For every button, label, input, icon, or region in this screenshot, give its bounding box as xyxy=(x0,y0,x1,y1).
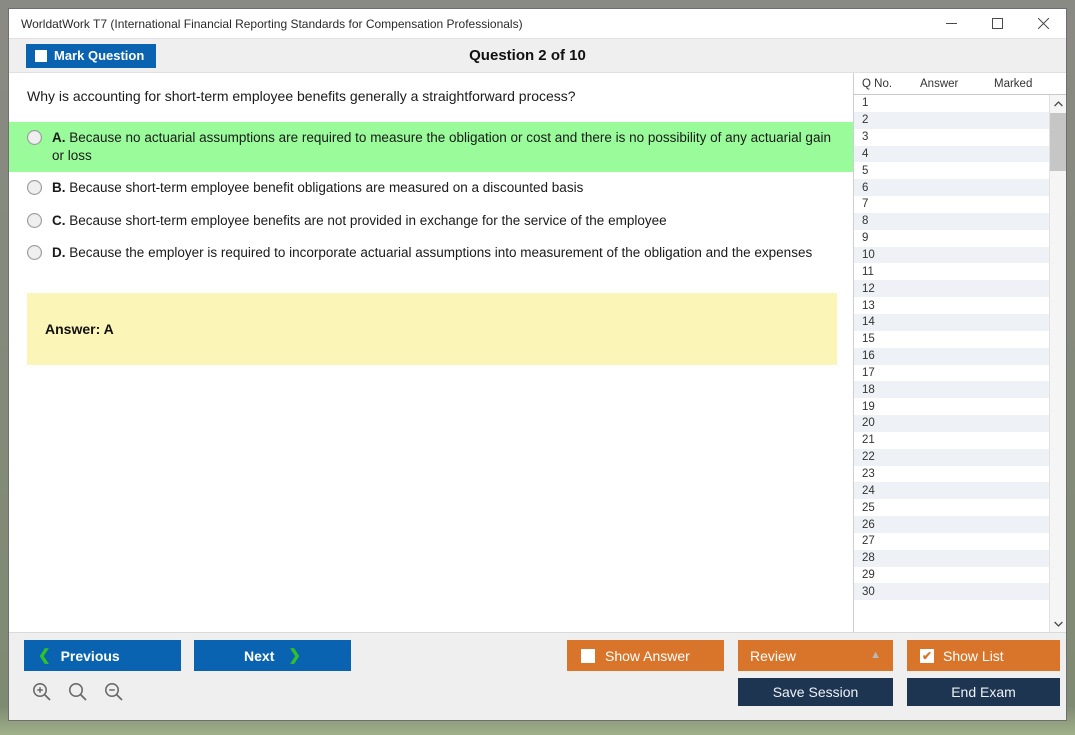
option-c-letter: C. xyxy=(52,213,66,228)
row-qno: 4 xyxy=(862,148,918,160)
question-list-row[interactable]: 8 xyxy=(854,213,1049,230)
scroll-up-icon[interactable] xyxy=(1050,95,1067,112)
answer-label: Answer: A xyxy=(45,321,114,337)
option-a-label: A. Because no actuarial assumptions are … xyxy=(52,129,835,165)
close-icon[interactable] xyxy=(1020,9,1066,39)
row-qno: 28 xyxy=(862,552,918,564)
question-list-row[interactable]: 25 xyxy=(854,499,1049,516)
show-answer-label: Show Answer xyxy=(605,648,690,664)
question-list-row[interactable]: 26 xyxy=(854,516,1049,533)
save-session-label: Save Session xyxy=(773,684,859,700)
option-d-letter: D. xyxy=(52,245,66,260)
zoom-out-icon[interactable] xyxy=(103,681,125,703)
option-b[interactable]: B. Because short-term employee benefit o… xyxy=(9,172,855,204)
exam-window: WorldatWork T7 (International Financial … xyxy=(8,8,1067,721)
question-list-row[interactable]: 19 xyxy=(854,398,1049,415)
bottom-toolbar: ❮ Previous Next ❯ Show Answer Review ▲ ✔… xyxy=(9,632,1066,720)
zoom-controls xyxy=(31,681,125,703)
question-list-row[interactable]: 30 xyxy=(854,583,1049,600)
row-qno: 7 xyxy=(862,198,918,210)
show-answer-checkbox-icon[interactable] xyxy=(581,649,595,663)
row-qno: 9 xyxy=(862,232,918,244)
option-a-text: Because no actuarial assumptions are req… xyxy=(52,130,831,163)
scrollbar-thumb[interactable] xyxy=(1050,113,1066,171)
end-exam-button[interactable]: End Exam xyxy=(907,678,1060,706)
question-list-row[interactable]: 20 xyxy=(854,415,1049,432)
row-qno: 26 xyxy=(862,519,918,531)
question-list-rows: 1234567891011121314151617181920212223242… xyxy=(854,95,1049,632)
title-bar: WorldatWork T7 (International Financial … xyxy=(9,9,1066,39)
row-qno: 10 xyxy=(862,249,918,261)
row-qno: 23 xyxy=(862,468,918,480)
desktop-background: WorldatWork T7 (International Financial … xyxy=(0,0,1075,735)
question-list-row[interactable]: 29 xyxy=(854,567,1049,584)
row-qno: 24 xyxy=(862,485,918,497)
question-list-row[interactable]: 6 xyxy=(854,179,1049,196)
zoom-in-icon[interactable] xyxy=(31,681,53,703)
radio-icon-d[interactable] xyxy=(27,245,42,260)
minimize-icon[interactable] xyxy=(928,9,974,39)
option-c[interactable]: C. Because short-term employee benefits … xyxy=(9,205,855,237)
option-d-text: Because the employer is required to inco… xyxy=(69,245,812,260)
option-d-label: D. Because the employer is required to i… xyxy=(52,244,835,262)
option-a[interactable]: A. Because no actuarial assumptions are … xyxy=(9,122,855,172)
answer-box: Answer: A xyxy=(27,293,837,365)
option-d[interactable]: D. Because the employer is required to i… xyxy=(9,237,855,269)
question-panel: Why is accounting for short-term employe… xyxy=(9,73,855,632)
option-c-label: C. Because short-term employee benefits … xyxy=(52,212,835,230)
question-list-header: Q No. Answer Marked xyxy=(854,73,1066,95)
question-list-row[interactable]: 5 xyxy=(854,162,1049,179)
row-qno: 8 xyxy=(862,215,918,227)
question-list-row[interactable]: 13 xyxy=(854,297,1049,314)
show-answer-button[interactable]: Show Answer xyxy=(567,640,724,671)
row-qno: 15 xyxy=(862,333,918,345)
question-list-row[interactable]: 12 xyxy=(854,280,1049,297)
window-controls xyxy=(928,9,1066,39)
question-list-row[interactable]: 14 xyxy=(854,314,1049,331)
radio-icon-c[interactable] xyxy=(27,213,42,228)
review-label: Review xyxy=(750,648,796,664)
top-toolbar: Mark Question Question 2 of 10 xyxy=(9,39,1066,73)
question-list-row[interactable]: 7 xyxy=(854,196,1049,213)
row-qno: 20 xyxy=(862,417,918,429)
row-qno: 16 xyxy=(862,350,918,362)
row-qno: 6 xyxy=(862,182,918,194)
row-qno: 5 xyxy=(862,165,918,177)
scroll-down-icon[interactable] xyxy=(1050,615,1067,632)
show-list-button[interactable]: ✔ Show List xyxy=(907,640,1060,671)
maximize-icon[interactable] xyxy=(974,9,1020,39)
row-qno: 3 xyxy=(862,131,918,143)
question-text: Why is accounting for short-term employe… xyxy=(9,73,855,106)
question-list-row[interactable]: 22 xyxy=(854,449,1049,466)
mark-question-button[interactable]: Mark Question xyxy=(26,44,156,68)
question-list-row[interactable]: 21 xyxy=(854,432,1049,449)
previous-label: Previous xyxy=(61,648,120,664)
show-list-checkbox-icon[interactable]: ✔ xyxy=(920,649,934,663)
row-qno: 27 xyxy=(862,535,918,547)
header-marked: Marked xyxy=(994,78,1064,90)
mark-question-checkbox-icon[interactable] xyxy=(35,50,47,62)
question-list-row[interactable]: 27 xyxy=(854,533,1049,550)
radio-icon-a[interactable] xyxy=(27,130,42,145)
row-qno: 30 xyxy=(862,586,918,598)
question-list-scrollbar[interactable] xyxy=(1049,95,1066,632)
question-list-panel: Q No. Answer Marked 12345678910111213141… xyxy=(853,73,1066,632)
chevron-up-icon: ▲ xyxy=(870,650,881,661)
show-list-label: Show List xyxy=(943,648,1004,664)
row-qno: 18 xyxy=(862,384,918,396)
question-list-row[interactable]: 24 xyxy=(854,482,1049,499)
row-qno: 1 xyxy=(862,97,918,109)
window-title: WorldatWork T7 (International Financial … xyxy=(9,17,523,31)
question-list-row[interactable]: 10 xyxy=(854,247,1049,264)
previous-button[interactable]: ❮ Previous xyxy=(24,640,181,671)
header-answer: Answer xyxy=(920,78,994,90)
question-list-row[interactable]: 28 xyxy=(854,550,1049,567)
row-qno: 19 xyxy=(862,401,918,413)
question-list-row[interactable]: 17 xyxy=(854,365,1049,382)
next-label: Next xyxy=(244,648,274,664)
option-b-text: Because short-term employee benefit obli… xyxy=(69,180,583,195)
question-list-row[interactable]: 4 xyxy=(854,146,1049,163)
question-counter: Question 2 of 10 xyxy=(9,47,1066,64)
row-qno: 25 xyxy=(862,502,918,514)
question-list-scroll-area: 1234567891011121314151617181920212223242… xyxy=(854,95,1066,632)
next-arrow-icon: ❯ xyxy=(288,648,301,663)
question-list-row[interactable]: 2 xyxy=(854,112,1049,129)
end-exam-label: End Exam xyxy=(951,684,1016,700)
option-c-text: Because short-term employee benefits are… xyxy=(69,213,666,228)
row-qno: 12 xyxy=(862,283,918,295)
radio-icon-b[interactable] xyxy=(27,180,42,195)
row-qno: 14 xyxy=(862,316,918,328)
question-list-row[interactable]: 16 xyxy=(854,348,1049,365)
option-b-letter: B. xyxy=(52,180,66,195)
row-qno: 2 xyxy=(862,114,918,126)
question-list-row[interactable]: 1 xyxy=(854,95,1049,112)
option-b-label: B. Because short-term employee benefit o… xyxy=(52,179,835,197)
question-list-row[interactable]: 11 xyxy=(854,263,1049,280)
row-qno: 13 xyxy=(862,300,918,312)
save-session-button[interactable]: Save Session xyxy=(738,678,893,706)
header-qno: Q No. xyxy=(862,78,920,90)
options-list: A. Because no actuarial assumptions are … xyxy=(9,122,855,269)
question-list-row[interactable]: 23 xyxy=(854,466,1049,483)
next-button[interactable]: Next ❯ xyxy=(194,640,351,671)
row-qno: 29 xyxy=(862,569,918,581)
row-qno: 17 xyxy=(862,367,918,379)
zoom-icon[interactable] xyxy=(67,681,89,703)
question-list-row[interactable]: 18 xyxy=(854,381,1049,398)
row-qno: 21 xyxy=(862,434,918,446)
row-qno: 11 xyxy=(862,266,918,278)
option-a-letter: A. xyxy=(52,130,66,145)
question-list-row[interactable]: 3 xyxy=(854,129,1049,146)
row-qno: 22 xyxy=(862,451,918,463)
question-list-row[interactable]: 15 xyxy=(854,331,1049,348)
question-list-row[interactable]: 9 xyxy=(854,230,1049,247)
exam-body: Why is accounting for short-term employe… xyxy=(9,73,1066,632)
mark-question-label: Mark Question xyxy=(54,48,144,63)
previous-arrow-icon: ❮ xyxy=(38,648,51,663)
review-dropdown[interactable]: Review ▲ xyxy=(738,640,893,671)
